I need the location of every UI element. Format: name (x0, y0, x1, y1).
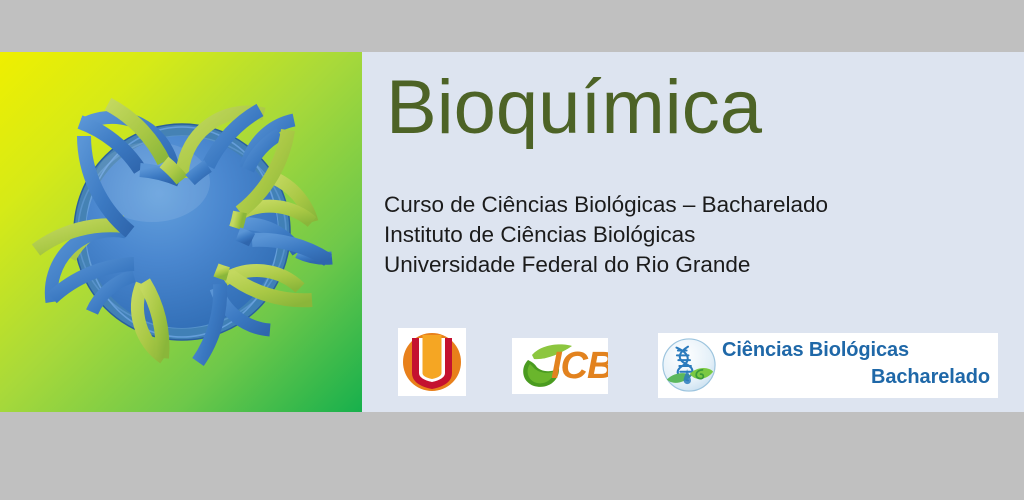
subtitle-line-course: Curso de Ciências Biológicas – Bacharela… (384, 190, 828, 220)
subtitle-line-university: Universidade Federal do Rio Grande (384, 250, 828, 280)
banner-graphic-panel (0, 52, 362, 412)
icb-logo-text: ICB (551, 344, 608, 388)
dna-leaf-icon (661, 337, 717, 393)
course-banner: Bioquímica Curso de Ciências Biológicas … (0, 52, 1024, 412)
ciencias-biologicas-title: Ciências Biológicas (722, 339, 909, 362)
icb-logo[interactable]: ICB (512, 338, 608, 394)
banner-text-panel: Bioquímica Curso de Ciências Biológicas … (362, 52, 1024, 412)
subtitle-line-institute: Instituto de Ciências Biológicas (384, 220, 828, 250)
ciencias-biologicas-logo[interactable]: Ciências Biológicas Bacharelado (658, 333, 998, 398)
molecule-sphere-emblem (12, 62, 352, 402)
furg-logo[interactable] (398, 328, 466, 396)
banner-subtitle: Curso de Ciências Biológicas – Bacharela… (384, 190, 828, 280)
ciencias-biologicas-subtitle: Bacharelado (871, 366, 990, 389)
page-title: Bioquímica (386, 70, 762, 146)
furg-logo-icon (398, 328, 466, 396)
